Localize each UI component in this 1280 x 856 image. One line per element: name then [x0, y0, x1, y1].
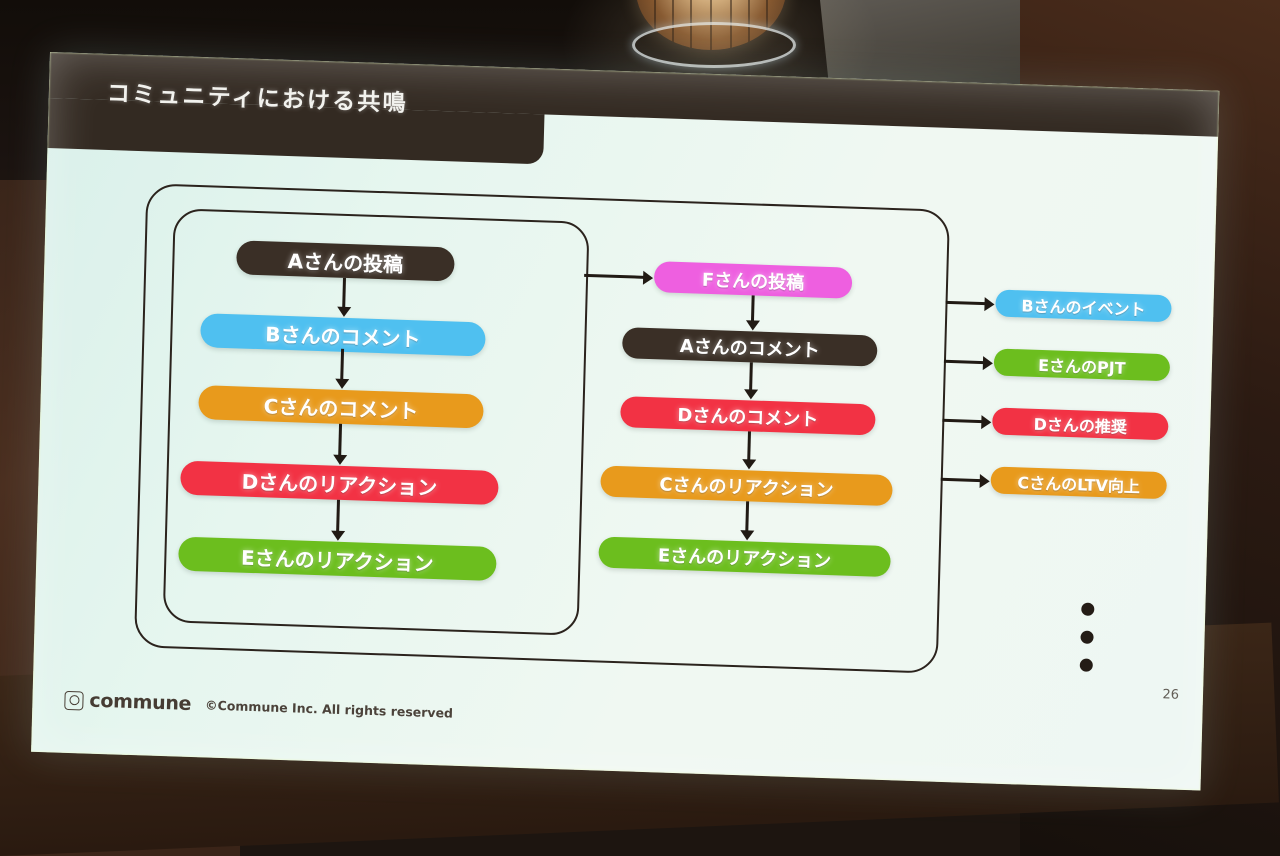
pill-d-recommend[interactable]: Dさんの推奨 — [992, 407, 1169, 440]
arrow-outer-to-ltv — [941, 478, 981, 482]
commune-logo-text: commune — [89, 690, 191, 715]
pill-f-post[interactable]: Fさんの投稿 — [654, 261, 853, 299]
slide-footer: commune ©Commune Inc. All rights reserve… — [64, 689, 453, 724]
dot-3 — [1080, 658, 1093, 671]
pendant-lamp — [636, 0, 786, 58]
pill-b-event[interactable]: Bさんのイベント — [995, 289, 1172, 322]
commune-logo-icon — [64, 690, 84, 710]
pill-e-pjt[interactable]: EさんのPJT — [994, 348, 1171, 381]
pill-c-ltv[interactable]: CさんのLTV向上 — [990, 466, 1167, 499]
copyright-text: ©Commune Inc. All rights reserved — [205, 697, 453, 720]
arrow-outer-to-pjt — [944, 360, 984, 364]
pill-a-post[interactable]: Aさんの投稿 — [236, 240, 455, 281]
lamp-rim — [632, 22, 796, 68]
dot-2 — [1080, 630, 1093, 643]
continuation-dots — [1079, 602, 1094, 686]
projection-screen: コミュニティにおける共鳴 Aさんの投稿 Bさんのコメント Cさんのコメント Dさ… — [31, 52, 1219, 791]
commune-logo: commune — [64, 689, 191, 715]
page-number: 26 — [1162, 687, 1179, 703]
presentation-slide: コミュニティにおける共鳴 Aさんの投稿 Bさんのコメント Cさんのコメント Dさ… — [31, 52, 1219, 791]
dot-1 — [1081, 602, 1094, 615]
arrow-outer-to-recommend — [942, 419, 982, 423]
arrow-outer-to-event — [946, 301, 986, 305]
